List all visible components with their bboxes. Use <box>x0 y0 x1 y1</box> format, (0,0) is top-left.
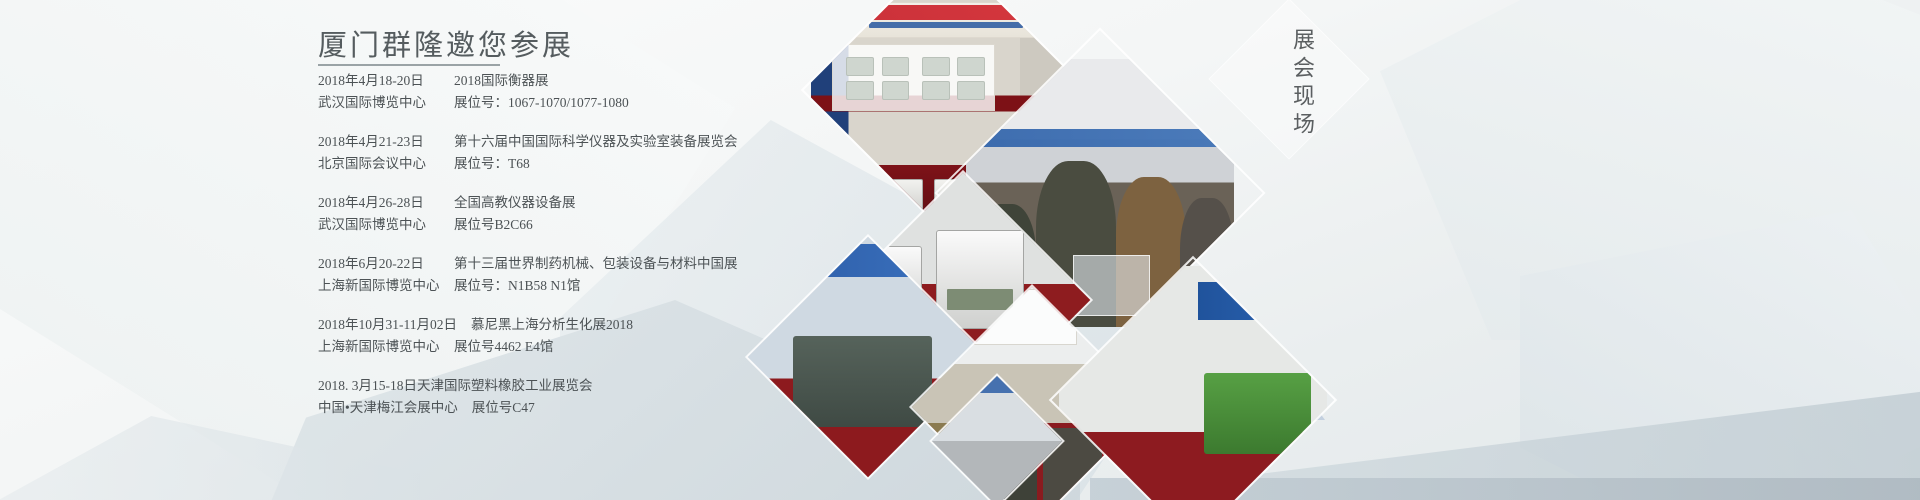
event-name: 2018国际衡器展 <box>454 70 549 92</box>
event-date: 2018年10月31-11月02日 <box>318 314 457 336</box>
event-date: 2018年4月21-23日 <box>318 131 440 153</box>
bg-polygon-d <box>1380 0 1920 340</box>
green-machine <box>1204 373 1311 453</box>
event-name: 第十六届中国国际科学仪器及实验室装备展览会 <box>454 131 738 153</box>
event-booth: 展位号4462 E4馆 <box>454 336 553 358</box>
banner-company-text <box>869 22 1022 28</box>
event-booth: 展位号：1067-1070/1077-1080 <box>454 92 629 114</box>
event-venue: 武汉国际博览中心 <box>318 92 440 114</box>
title-divider <box>318 64 500 66</box>
event-venue: 北京国际会议中心 <box>318 153 440 175</box>
page-title: 厦门群隆邀您参展 <box>318 22 574 64</box>
event-booth: 展位号：T68 <box>454 153 530 175</box>
booth-poster <box>832 44 995 110</box>
balance-instrument <box>1073 255 1150 316</box>
machine-unit <box>793 336 932 427</box>
event-name: 慕尼黑上海分析生化展2018 <box>471 314 633 336</box>
hall-signage <box>966 129 1234 148</box>
event-name: 全国高教仪器设备展 <box>454 192 576 214</box>
event-booth: 展位号B2C66 <box>454 214 533 236</box>
event-venue: 上海新国际博览中心 <box>318 275 440 297</box>
list-item: 2018年4月21-23日 第十六届中国国际科学仪器及实验室装备展览会 北京国际… <box>318 131 898 175</box>
vertical-section-label: 展会现场 <box>1278 28 1318 140</box>
event-row-top: 2018年4月26-28日 全国高教仪器设备展 <box>318 192 898 214</box>
invitation-panel: 厦门群隆邀您参展 2018年4月18-20日 2018国际衡器展 武汉国际博览中… <box>0 0 900 500</box>
event-venue: 武汉国际博览中心 <box>318 214 440 236</box>
event-date: 2018年4月18-20日 <box>318 70 440 92</box>
photo-collage <box>845 0 1245 500</box>
event-booth: 展位号：N1B58 N1馆 <box>454 275 580 297</box>
event-row-top: 2018年4月21-23日 第十六届中国国际科学仪器及实验室装备展览会 <box>318 131 898 153</box>
event-date: 2018年6月20-22日 <box>318 253 440 275</box>
event-name: 第十三届世界制药机械、包装设备与材料中国展 <box>454 253 738 275</box>
event-booth: 展位号C47 <box>472 397 535 419</box>
event-row-top: 2018年6月20-22日 第十三届世界制药机械、包装设备与材料中国展 <box>318 253 898 275</box>
bg-polygon-e <box>1520 210 1920 500</box>
list-item: 2018年6月20-22日 第十三届世界制药机械、包装设备与材料中国展 上海新国… <box>318 253 898 297</box>
banner-stage: 厦门群隆邀您参展 2018年4月18-20日 2018国际衡器展 武汉国际博览中… <box>0 0 1920 500</box>
banner-red-text <box>842 5 1049 20</box>
event-date: 2018年4月26-28日 <box>318 192 440 214</box>
event-date: 2018. 3月15-18日天津国际塑料橡胶工业展览会 <box>318 375 593 397</box>
booth-banner <box>832 2 1059 39</box>
event-venue: 中国•天津梅江会展中心 <box>318 397 458 419</box>
event-row-bottom: 北京国际会议中心 展位号：T68 <box>318 153 898 175</box>
event-venue: 上海新国际博览中心 <box>318 336 440 358</box>
list-item: 2018年4月26-28日 全国高教仪器设备展 武汉国际博览中心 展位号B2C6… <box>318 192 898 236</box>
booth-header-sign <box>1198 282 1321 320</box>
event-row-bottom: 武汉国际博览中心 展位号B2C66 <box>318 214 898 236</box>
